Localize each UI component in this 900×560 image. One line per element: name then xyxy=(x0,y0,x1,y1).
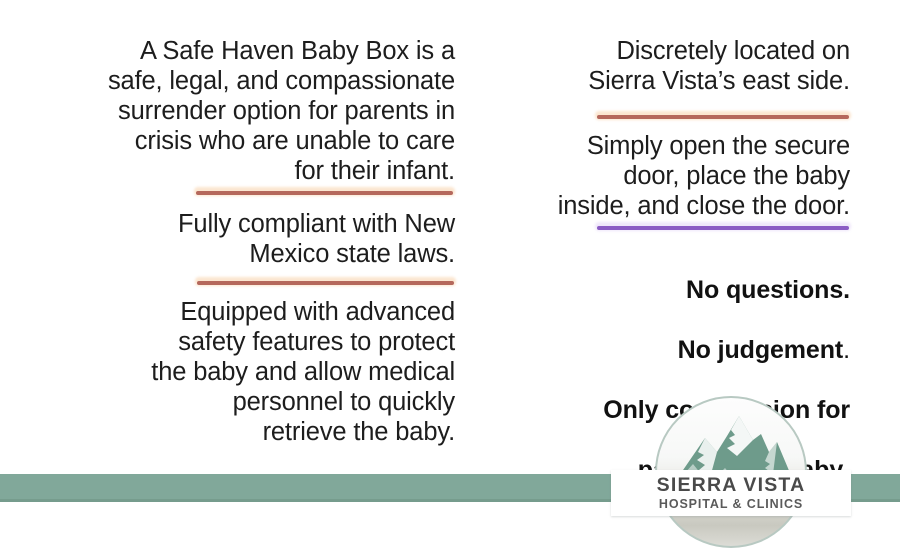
divider-bar xyxy=(597,226,849,230)
promise-line-1: No questions. xyxy=(686,276,850,304)
right-location-text: Discretely located on Sierra Vista’s eas… xyxy=(470,36,850,96)
divider-right-2 xyxy=(597,226,849,230)
left-intro-text: A Safe Haven Baby Box is a safe, legal, … xyxy=(0,36,455,186)
promise-line-2-period: . xyxy=(843,336,850,364)
logo-subtitle-text: HOSPITAL & CLINICS xyxy=(659,498,803,511)
divider-bar xyxy=(597,115,849,119)
promise-line-2: No judgement xyxy=(678,336,843,364)
poster-canvas: A Safe Haven Baby Box is a safe, legal, … xyxy=(0,0,900,560)
logo-name-band: SIERRA VISTA HOSPITAL & CLINICS xyxy=(611,470,851,516)
left-compliance-text: Fully compliant with New Mexico state la… xyxy=(0,209,455,269)
sierra-vista-logo: SIERRA VISTA HOSPITAL & CLINICS xyxy=(655,396,807,548)
divider-bar xyxy=(196,191,453,195)
divider-bar xyxy=(197,281,454,285)
logo-name-text: SIERRA VISTA xyxy=(657,476,806,496)
divider-right-1 xyxy=(597,115,849,119)
divider-left-2 xyxy=(197,281,454,285)
right-instructions-text: Simply open the secure door, place the b… xyxy=(470,131,850,221)
divider-left-1 xyxy=(196,191,453,195)
left-safety-text: Equipped with advanced safety features t… xyxy=(0,297,455,447)
